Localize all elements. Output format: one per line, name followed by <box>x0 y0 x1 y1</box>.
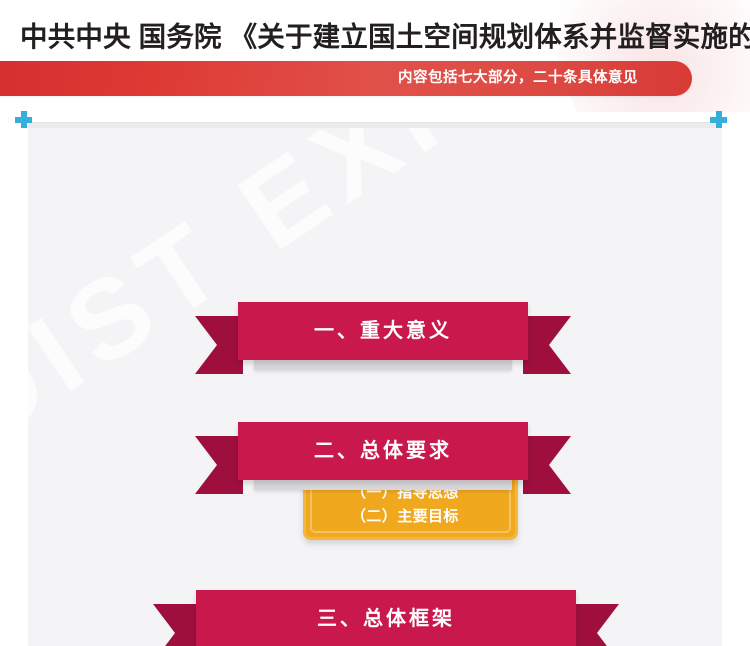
section-block-1: 一、重大意义 <box>238 302 528 360</box>
ribbon-tail-left <box>195 436 243 494</box>
content-panel: DIST EXPERTS 一、重大意义 （一）指导思想 （二）主要目标 二、总 <box>28 128 722 646</box>
ribbon-banner-3: 三、总体框架 <box>196 590 576 646</box>
section-heading-2: 二、总体要求 <box>238 422 528 480</box>
ribbon-tail-left <box>195 316 243 374</box>
ribbon-banner-1: 一、重大意义 <box>238 302 528 360</box>
ribbon-tail-right <box>571 604 619 646</box>
section-heading-3: 三、总体框架 <box>196 590 576 646</box>
section-heading-1: 一、重大意义 <box>238 302 528 360</box>
poster-header: 中共中央 国务院 《关于建立国土空间规划体系并监督实施的若干意见》 内容包括七大… <box>0 0 750 112</box>
ribbon-tail-left <box>153 604 201 646</box>
ribbon-tail-right <box>523 316 571 374</box>
infographic-poster: 中共中央 国务院 《关于建立国土空间规划体系并监督实施的若干意见》 内容包括七大… <box>0 0 750 646</box>
ribbon-banner-2: 二、总体要求 <box>238 422 528 480</box>
page-title: 中共中央 国务院 《关于建立国土空间规划体系并监督实施的若干意见》 <box>20 19 736 55</box>
subtitle-text: 内容包括七大部分，二十条具体意见 <box>0 61 670 96</box>
cross-marker-icon-right <box>710 111 727 128</box>
list-item: （二）主要目标 <box>351 505 518 529</box>
section-block-3: 三、总体框架 <box>196 590 576 646</box>
watermark-text: DIST EXPERTS <box>28 128 722 646</box>
section-block-2: 二、总体要求 <box>238 422 528 480</box>
cross-marker-icon-left <box>15 111 32 128</box>
ribbon-tail-right <box>523 436 571 494</box>
